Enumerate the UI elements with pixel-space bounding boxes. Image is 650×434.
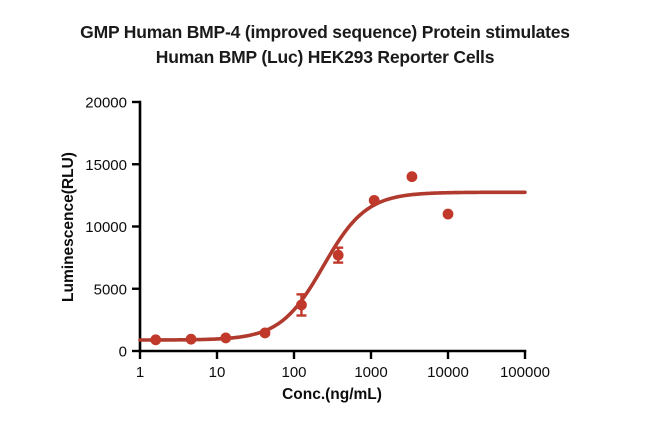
data-point	[296, 300, 307, 311]
x-axis-tick-labels: 110100100010000100000	[136, 364, 550, 381]
plot-area: 05000100001500020000 1101001000100001000…	[0, 0, 650, 434]
y-axis-title: Luminescence(RLU)	[60, 152, 77, 302]
y-axis-tick-labels: 05000100001500020000	[85, 95, 127, 361]
x-tick-label: 1000	[354, 364, 387, 381]
y-tick-label: 20000	[85, 95, 127, 112]
data-point	[369, 195, 380, 206]
data-point	[333, 250, 344, 261]
y-tick-label: 0	[119, 344, 127, 361]
data-point	[443, 209, 454, 220]
data-point	[220, 333, 231, 344]
y-tick-label: 10000	[85, 219, 127, 236]
x-tick-label: 1	[136, 364, 144, 381]
chart-figure: GMP Human BMP-4 (improved sequence) Prot…	[0, 0, 650, 434]
fit-curve	[140, 192, 525, 340]
x-axis-title: Conc.(ng/mL)	[282, 386, 382, 403]
data-point	[150, 334, 161, 345]
x-tick-label: 10000	[427, 364, 469, 381]
data-point	[260, 328, 271, 339]
x-tick-label: 10	[209, 364, 226, 381]
data-points	[150, 171, 453, 345]
data-point	[407, 171, 418, 182]
y-tick-label: 15000	[85, 157, 127, 174]
x-tick-label: 100	[281, 364, 306, 381]
y-tick-label: 5000	[94, 281, 127, 298]
x-tick-label: 100000	[500, 364, 550, 381]
data-point	[186, 334, 197, 345]
